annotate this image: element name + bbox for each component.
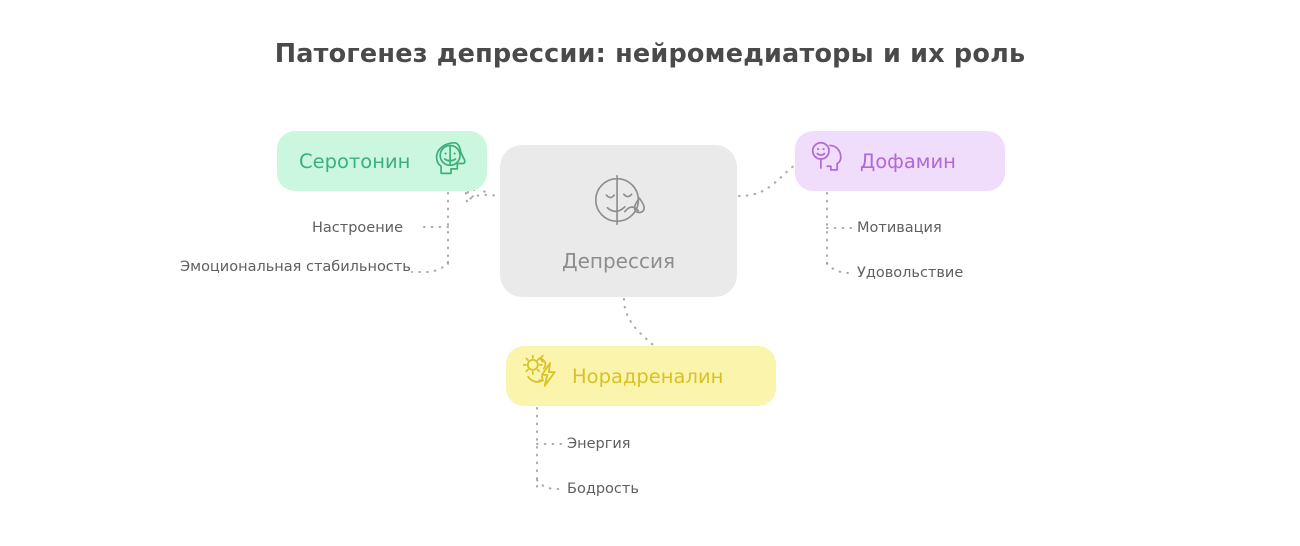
diagram-canvas: Патогенез депрессии: нейромедиаторы и их… <box>0 0 1300 546</box>
sub-label-motivation: Мотивация <box>857 220 942 236</box>
sub-label-energy: Энергия <box>567 436 631 452</box>
node-dopamine[interactable]: Дофамин <box>795 131 1005 191</box>
link-serotonin-center-curve <box>468 192 499 199</box>
head-brain-face-icon <box>433 140 469 182</box>
sub-label-stability: Эмоциональная стабильность <box>180 259 411 275</box>
split-face-sad-happy-icon <box>588 169 650 235</box>
page-title: Патогенез депрессии: нейромедиаторы и их… <box>0 39 1300 69</box>
node-noradrenaline[interactable]: Норадреналин <box>506 346 776 406</box>
sub-label-mood: Настроение <box>312 220 403 236</box>
link-noradrenaline-branch-vigor <box>537 480 561 489</box>
link-serotonin-branch-stability <box>412 262 448 272</box>
node-noradrenaline-label: Норадреналин <box>572 365 723 388</box>
node-dopamine-label: Дофамин <box>860 150 956 173</box>
head-smiley-icon <box>810 140 848 182</box>
node-depression-label: Депрессия <box>562 249 675 273</box>
node-serotonin[interactable]: Серотонин <box>277 131 487 191</box>
node-serotonin-label: Серотонин <box>299 150 410 173</box>
link-center-noradrenaline <box>624 299 654 346</box>
node-depression[interactable]: Депрессия <box>500 145 737 297</box>
sub-label-pleasure: Удовольствие <box>857 265 963 281</box>
sub-label-vigor: Бодрость <box>567 481 639 497</box>
link-dopamine-branch-pleasure <box>827 263 851 273</box>
sun-lightning-icon <box>520 353 562 399</box>
link-center-dopamine <box>739 165 795 196</box>
